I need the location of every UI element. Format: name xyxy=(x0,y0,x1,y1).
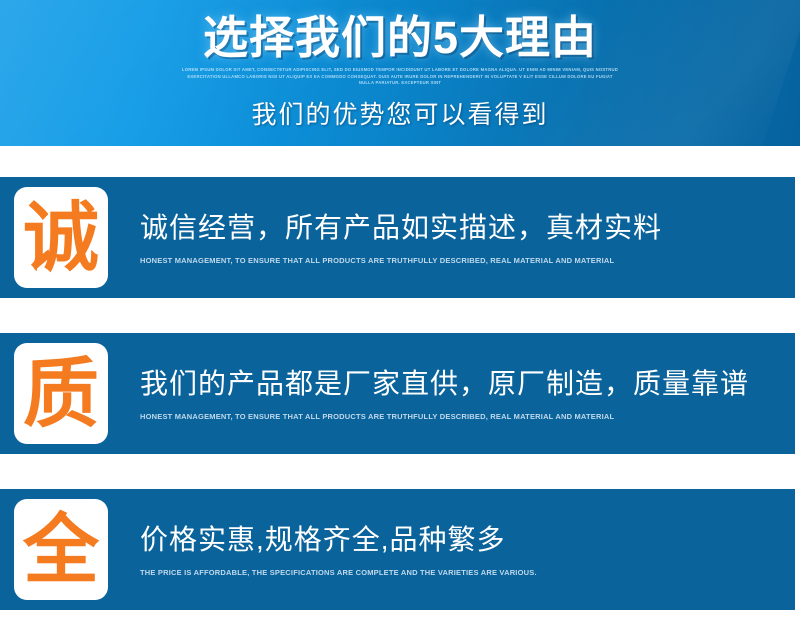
reason-card-1-text: 诚信经营，所有产品如实描述，真材实料 HONEST MANAGEMENT, TO… xyxy=(108,210,795,266)
icon-badge-2: 质 xyxy=(14,343,108,444)
promo-banner: 选择我们的5大理由 LOREM IPSUM DOLOR SIT AMET, CO… xyxy=(0,0,800,146)
banner-title: 选择我们的5大理由 xyxy=(0,12,800,64)
reason-card-2: 质 我们的产品都是厂家直供，原厂制造，质量靠谱 HONEST MANAGEMEN… xyxy=(0,333,795,454)
zhi-character-icon: 质 xyxy=(23,354,99,434)
reason-card-3-title: 价格实惠,规格齐全,品种繁多 xyxy=(140,522,779,558)
quan-character-icon: 全 xyxy=(23,510,99,590)
reason-card-2-text: 我们的产品都是厂家直供，原厂制造，质量靠谱 HONEST MANAGEMENT,… xyxy=(108,366,795,422)
cheng-character-icon: 诚 xyxy=(23,198,99,278)
reason-card-1: 诚 诚信经营，所有产品如实描述，真材实料 HONEST MANAGEMENT, … xyxy=(0,177,795,298)
reason-card-3-subtitle: THE PRICE IS AFFORDABLE, THE SPECIFICATI… xyxy=(140,567,779,578)
reason-card-3: 全 价格实惠,规格齐全,品种繁多 THE PRICE IS AFFORDABLE… xyxy=(0,489,795,610)
icon-badge-3: 全 xyxy=(14,499,108,600)
reason-card-list: 诚 诚信经营，所有产品如实描述，真材实料 HONEST MANAGEMENT, … xyxy=(0,146,800,610)
reason-card-2-title: 我们的产品都是厂家直供，原厂制造，质量靠谱 xyxy=(140,366,779,402)
banner-lorem-text: LOREM IPSUM DOLOR SIT AMET, CONSECTETUR … xyxy=(180,67,620,87)
banner-content: 选择我们的5大理由 LOREM IPSUM DOLOR SIT AMET, CO… xyxy=(0,0,800,130)
reason-card-1-subtitle: HONEST MANAGEMENT, TO ENSURE THAT ALL PR… xyxy=(140,255,779,266)
icon-badge-1: 诚 xyxy=(14,187,108,288)
reason-card-1-title: 诚信经营，所有产品如实描述，真材实料 xyxy=(140,210,779,246)
reason-card-2-subtitle: HONEST MANAGEMENT, TO ENSURE THAT ALL PR… xyxy=(140,411,779,422)
banner-subtitle: 我们的优势您可以看得到 xyxy=(0,100,800,130)
reason-card-3-text: 价格实惠,规格齐全,品种繁多 THE PRICE IS AFFORDABLE, … xyxy=(108,522,795,578)
